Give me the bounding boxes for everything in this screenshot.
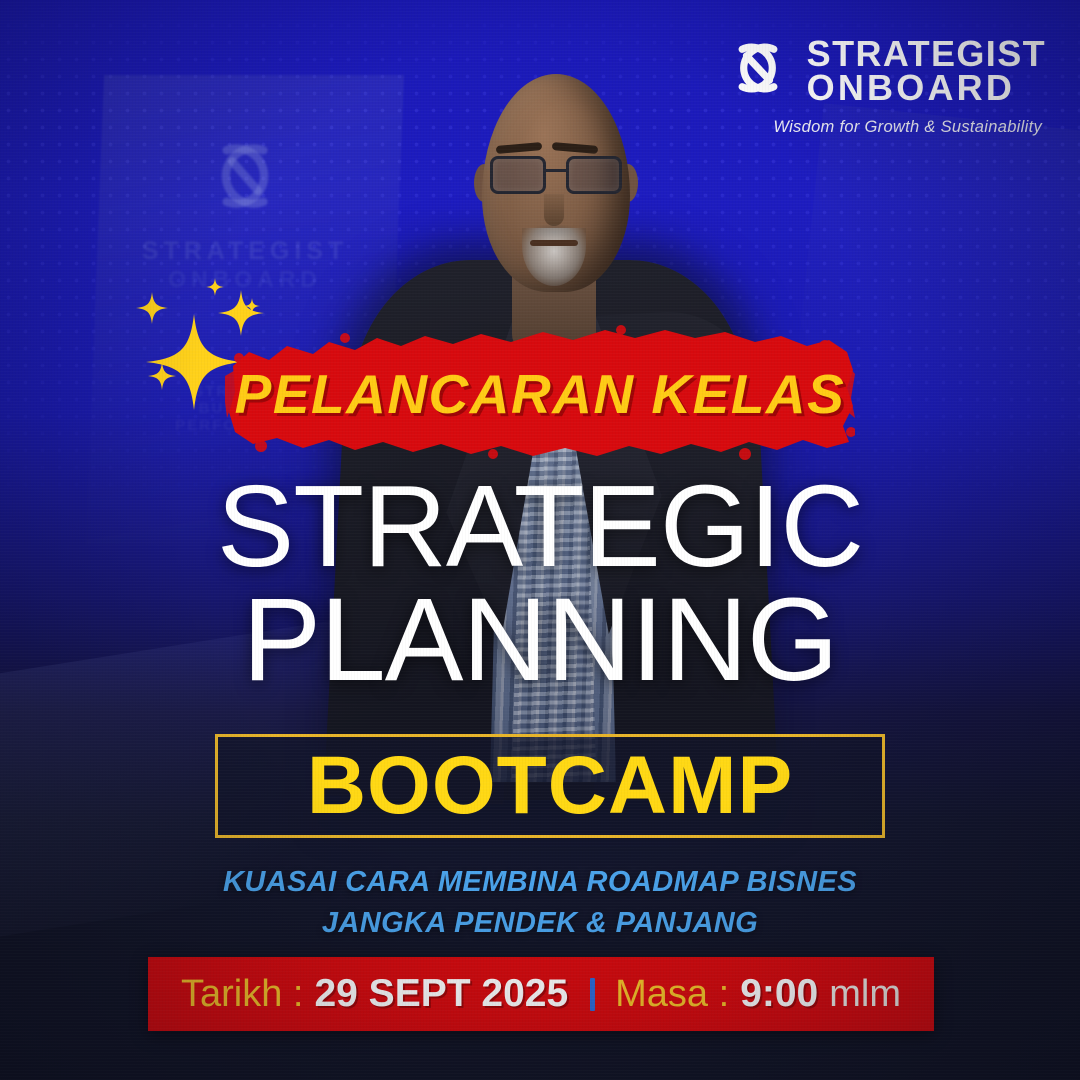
logo-monogram-icon (722, 32, 794, 109)
subtitle-line-2: JANGKA PENDEK & PANJANG (0, 903, 1080, 944)
title-line-1: STRATEGIC (0, 470, 1080, 583)
poster-canvas: STRATEGIST ONBOARD STRATEGIC BUSINESS PE… (0, 0, 1080, 1080)
time-label: Masa : (615, 973, 729, 1016)
date-time-bar: Tarikh : 29 SEPT 2025 Masa : 9:00 mlm (148, 957, 934, 1031)
divider-icon (590, 978, 595, 1011)
subtitle-line-1: KUASAI CARA MEMBINA ROADMAP BISNES (0, 862, 1080, 903)
page-title: STRATEGIC PLANNING (0, 470, 1080, 697)
bootcamp-badge: BOOTCAMP (215, 734, 885, 838)
date-value: 29 SEPT 2025 (314, 972, 568, 1016)
subtitle: KUASAI CARA MEMBINA ROADMAP BISNES JANGK… (0, 862, 1080, 944)
logo-line-1: STRATEGIST (807, 37, 1046, 70)
bootcamp-label: BOOTCAMP (307, 745, 793, 827)
brand-logo: STRATEGIST ONBOARD Wisdom for Growth & S… (722, 32, 1046, 137)
time-value: 9:00 (740, 972, 818, 1016)
title-line-2: PLANNING (0, 583, 1080, 697)
logo-line-2: ONBOARD (807, 71, 1046, 104)
eyeglasses-icon (488, 156, 624, 196)
banner-text: PELANCARAN KELAS (225, 322, 855, 462)
launch-banner: PELANCARAN KELAS (225, 322, 855, 462)
time-suffix: mlm (829, 973, 901, 1016)
date-label: Tarikh : (181, 973, 303, 1016)
logo-tagline: Wisdom for Growth & Sustainability (773, 118, 1046, 137)
